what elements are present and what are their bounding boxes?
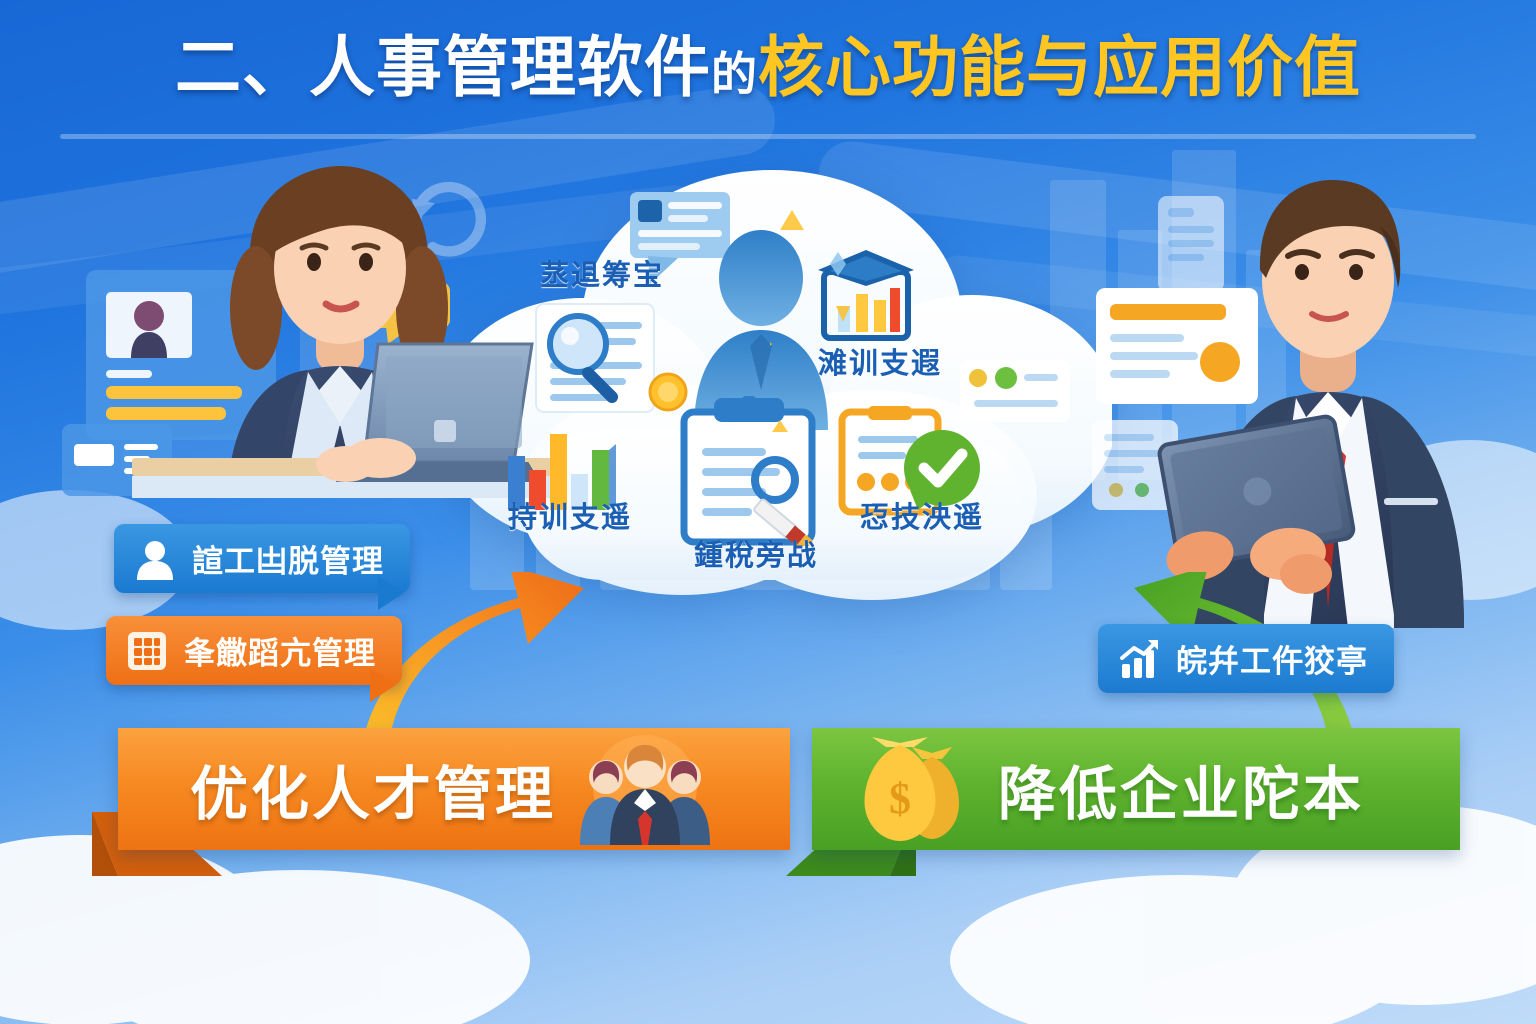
growth-chart-icon bbox=[1118, 638, 1160, 680]
infographic-canvas: 二、人事管理软件的核心功能与应用价值 bbox=[0, 0, 1536, 1024]
cloud-label-bottom-right: 㤍技泱遥 bbox=[860, 494, 984, 536]
pill-employee-records-label: 諠工凷脱管理 bbox=[192, 536, 384, 581]
cloud-label-bottom-mid: 鍾稅旁战 bbox=[694, 532, 818, 574]
user-icon bbox=[134, 538, 176, 580]
coin-icon bbox=[648, 372, 688, 412]
figure-man-tablet bbox=[1140, 168, 1536, 628]
cloud-label-bottom-left: 持训支遥 bbox=[508, 494, 632, 536]
title-connector: 的 bbox=[711, 48, 758, 100]
team-group-icon bbox=[570, 733, 720, 845]
grid-icon bbox=[126, 630, 168, 672]
banner-talent[interactable]: 优化人才管理 bbox=[118, 728, 790, 850]
banner-talent-label: 优化人才管理 bbox=[190, 747, 556, 831]
sparkle-icon bbox=[770, 200, 930, 460]
title-gold-part: 核心功能与应用价值 bbox=[758, 30, 1361, 104]
title-divider bbox=[60, 134, 1476, 139]
banner-cost[interactable]: $ 降低企业陀本 bbox=[812, 728, 1460, 850]
pill-tail bbox=[378, 576, 404, 610]
pill-payroll-label: 夆饊蹈亢管理 bbox=[184, 628, 376, 673]
cloud-label-top-left: 䒱䢐筹宝 bbox=[540, 252, 664, 294]
pill-efficiency[interactable]: 皖幷工仵狡亭 bbox=[1098, 624, 1394, 693]
pill-tail bbox=[370, 668, 396, 702]
svg-text:$: $ bbox=[889, 774, 911, 823]
pill-efficiency-label: 皖幷工仵狡亭 bbox=[1176, 636, 1368, 681]
page-title: 二、人事管理软件的核心功能与应用价值 bbox=[0, 34, 1536, 100]
cloud-label-right-upper: 滩训支遐 bbox=[818, 340, 942, 382]
money-bag-icon: $ bbox=[854, 737, 972, 841]
pill-payroll[interactable]: 夆饊蹈亢管理 bbox=[106, 616, 402, 685]
pill-employee-records[interactable]: 諠工凷脱管理 bbox=[114, 524, 410, 593]
figure-woman-laptop bbox=[132, 158, 552, 498]
title-white-part: 二、人事管理软件 bbox=[175, 30, 711, 104]
banner-cost-label: 降低企业陀本 bbox=[998, 747, 1364, 831]
